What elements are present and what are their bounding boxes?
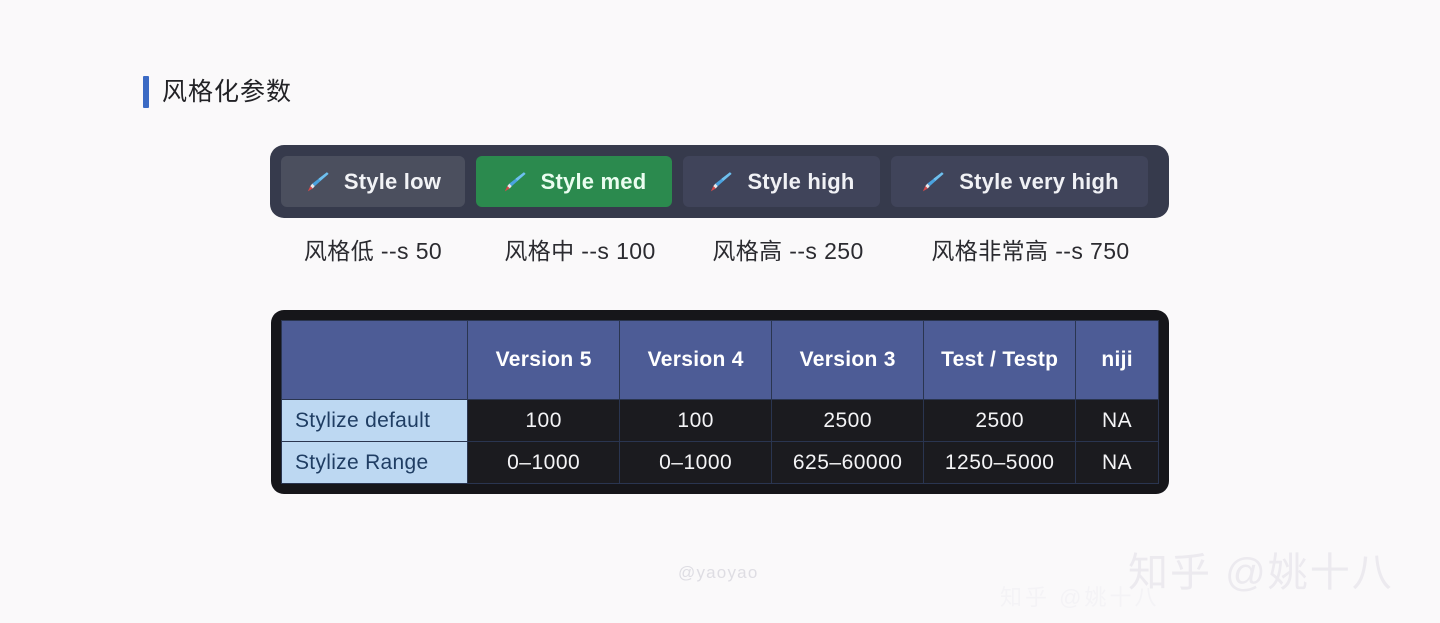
cell-range-version-5: 0–1000 bbox=[468, 442, 620, 484]
cell-default-test-testp: 2500 bbox=[924, 400, 1076, 442]
column-header-version-5: Version 5 bbox=[468, 321, 620, 400]
table-corner-cell bbox=[282, 321, 468, 400]
cell-default-version-3: 2500 bbox=[772, 400, 924, 442]
style-med-label: Style med bbox=[541, 169, 647, 195]
style-low-caption: 风格低 --s 50 bbox=[270, 232, 476, 266]
table-row: Stylize default 100 100 2500 2500 NA bbox=[282, 400, 1159, 442]
stylize-spec-table: Version 5 Version 4 Version 3 Test / Tes… bbox=[281, 320, 1159, 484]
cell-range-version-4: 0–1000 bbox=[620, 442, 772, 484]
table-row: Stylize Range 0–1000 0–1000 625–60000 12… bbox=[282, 442, 1159, 484]
style-caption-row: 风格低 --s 50 风格中 --s 100 风格高 --s 250 风格非常高… bbox=[270, 232, 1169, 266]
row-label-stylize-default: Stylize default bbox=[282, 400, 468, 442]
style-low-label: Style low bbox=[344, 169, 441, 195]
stylize-table-card: Version 5 Version 4 Version 3 Test / Tes… bbox=[271, 310, 1169, 494]
paintbrush-icon bbox=[920, 169, 946, 195]
page-title: 风格化参数 bbox=[143, 76, 292, 108]
table-header-row: Version 5 Version 4 Version 3 Test / Tes… bbox=[282, 321, 1159, 400]
style-low-button[interactable]: Style low bbox=[281, 156, 465, 207]
column-header-version-4: Version 4 bbox=[620, 321, 772, 400]
watermark-center: @yaoyao bbox=[678, 563, 758, 583]
column-header-niji: niji bbox=[1076, 321, 1159, 400]
column-header-version-3: Version 3 bbox=[772, 321, 924, 400]
style-high-button[interactable]: Style high bbox=[683, 156, 880, 207]
cell-range-niji: NA bbox=[1076, 442, 1159, 484]
row-label-stylize-range: Stylize Range bbox=[282, 442, 468, 484]
style-very-high-caption: 风格非常高 --s 750 bbox=[892, 232, 1169, 266]
style-very-high-button[interactable]: Style very high bbox=[891, 156, 1148, 207]
watermark-corner: 知乎 @姚十八 bbox=[1128, 540, 1394, 598]
table-body: Stylize default 100 100 2500 2500 NA Sty… bbox=[282, 400, 1159, 484]
style-med-button[interactable]: Style med bbox=[476, 156, 672, 207]
cell-default-niji: NA bbox=[1076, 400, 1159, 442]
heading-accent-bar bbox=[143, 76, 149, 108]
cell-range-test-testp: 1250–5000 bbox=[924, 442, 1076, 484]
style-high-caption: 风格高 --s 250 bbox=[684, 232, 892, 266]
paintbrush-icon bbox=[502, 169, 528, 195]
style-very-high-label: Style very high bbox=[959, 169, 1119, 195]
page-title-text: 风格化参数 bbox=[162, 80, 292, 105]
cell-default-version-4: 100 bbox=[620, 400, 772, 442]
style-med-caption: 风格中 --s 100 bbox=[476, 232, 684, 266]
paintbrush-icon bbox=[708, 169, 734, 195]
cell-range-version-3: 625–60000 bbox=[772, 442, 924, 484]
page-root: 风格化参数 Style low bbox=[0, 0, 1440, 623]
style-high-label: Style high bbox=[747, 169, 854, 195]
paintbrush-icon bbox=[305, 169, 331, 195]
table-header: Version 5 Version 4 Version 3 Test / Tes… bbox=[282, 321, 1159, 400]
style-button-bar: Style low Style med bbox=[270, 145, 1169, 218]
column-header-test-testp: Test / Testp bbox=[924, 321, 1076, 400]
cell-default-version-5: 100 bbox=[468, 400, 620, 442]
